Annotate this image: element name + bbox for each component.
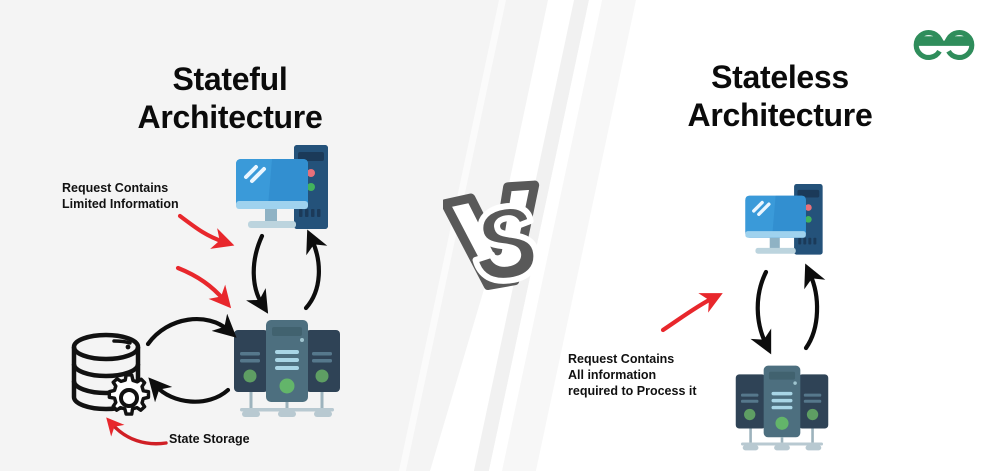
label-state-storage: State Storage: [169, 431, 309, 447]
infographic-canvas: Stateful Architecture Stateless Architec…: [0, 0, 1001, 471]
page-title-stateful: Stateful Architecture: [110, 60, 350, 136]
label-request-limited-information: Request Contains Limited Information: [62, 180, 252, 212]
database-gear-icon: [66, 330, 162, 428]
geeksforgeeks-logo: [910, 25, 978, 65]
page-title-stateless: Stateless Architecture: [660, 58, 900, 134]
versus-mark: [443, 178, 563, 303]
label-request-all-information: Request Contains All information require…: [568, 351, 768, 399]
desktop-computer-icon-right: [742, 182, 826, 260]
server-rack-icon-left: [232, 316, 342, 421]
